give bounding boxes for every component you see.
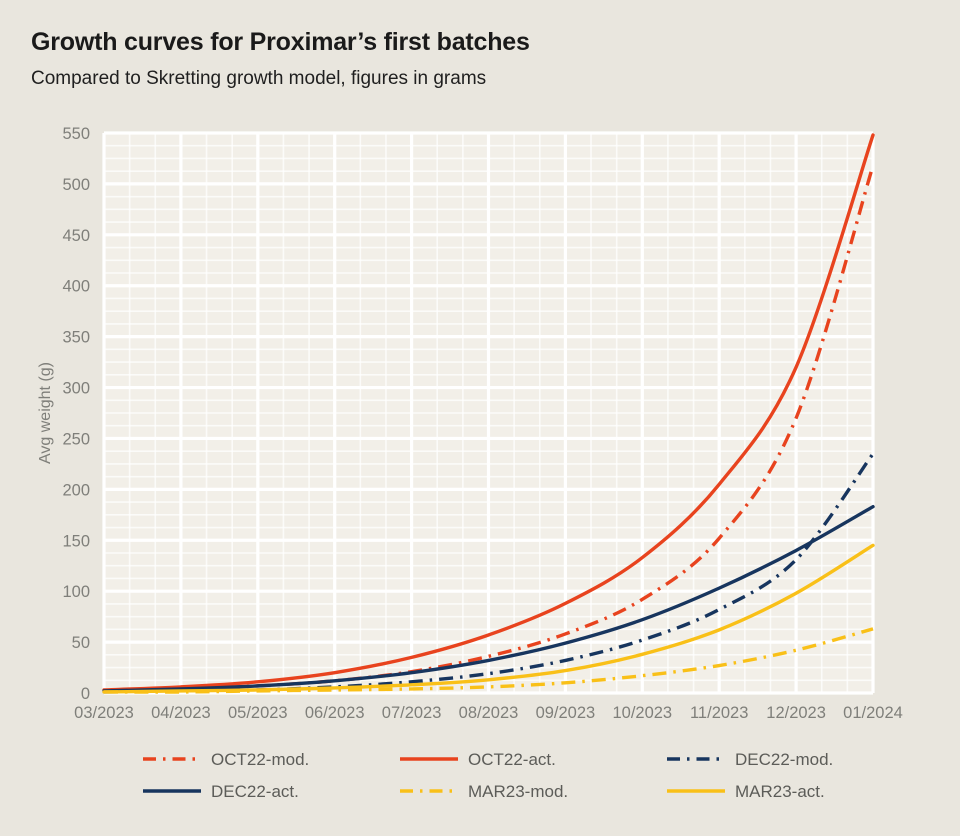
- x-tick-label: 04/2023: [151, 704, 211, 722]
- x-tick-label: 03/2023: [74, 704, 134, 722]
- legend-item[interactable]: MAR23-mod.: [400, 782, 568, 801]
- legend-item[interactable]: DEC22-act.: [143, 782, 299, 801]
- x-tick-label: 10/2023: [612, 704, 672, 722]
- legend-item[interactable]: OCT22-act.: [400, 750, 556, 769]
- legend-label: OCT22-act.: [468, 750, 556, 769]
- y-tick-label: 350: [62, 329, 90, 347]
- y-axis-title-label: Avg weight (g): [37, 362, 54, 464]
- y-tick-label: 300: [62, 380, 90, 398]
- x-tick-label: 06/2023: [305, 704, 365, 722]
- x-tick-label: 01/2024: [843, 704, 903, 722]
- y-tick-label: 0: [81, 685, 90, 703]
- y-tick-label: 50: [72, 634, 90, 652]
- y-tick-label: 500: [62, 176, 90, 194]
- x-tick-label: 05/2023: [228, 704, 288, 722]
- legend-label: DEC22-mod.: [735, 750, 833, 769]
- x-tick-label: 08/2023: [459, 704, 519, 722]
- x-tick-label: 12/2023: [766, 704, 826, 722]
- y-axis-title: Avg weight (g): [37, 362, 54, 464]
- y-tick-label: 250: [62, 430, 90, 448]
- legend-label: MAR23-mod.: [468, 782, 568, 801]
- y-axis-tick-labels: 050100150200250300350400450500550: [62, 125, 90, 703]
- chart-legend: OCT22-mod.OCT22-act.DEC22-mod.DEC22-act.…: [143, 750, 833, 801]
- chart-figure: Growth curves for Proximar’s first batch…: [0, 0, 960, 836]
- y-tick-label: 450: [62, 227, 90, 245]
- x-tick-label: 07/2023: [382, 704, 442, 722]
- x-tick-label: 11/2023: [690, 704, 748, 722]
- y-tick-label: 400: [62, 278, 90, 296]
- y-tick-label: 550: [62, 125, 90, 143]
- y-tick-label: 150: [62, 532, 90, 550]
- x-axis-tick-labels: 03/202304/202305/202306/202307/202308/20…: [74, 704, 903, 722]
- legend-label: OCT22-mod.: [211, 750, 309, 769]
- y-tick-label: 100: [62, 583, 90, 601]
- legend-item[interactable]: DEC22-mod.: [667, 750, 833, 769]
- legend-label: MAR23-act.: [735, 782, 825, 801]
- legend-item[interactable]: OCT22-mod.: [143, 750, 309, 769]
- x-tick-label: 09/2023: [536, 704, 596, 722]
- legend-item[interactable]: MAR23-act.: [667, 782, 825, 801]
- growth-curves-chart: 050100150200250300350400450500550 03/202…: [0, 0, 960, 836]
- legend-label: DEC22-act.: [211, 782, 299, 801]
- y-tick-label: 200: [62, 481, 90, 499]
